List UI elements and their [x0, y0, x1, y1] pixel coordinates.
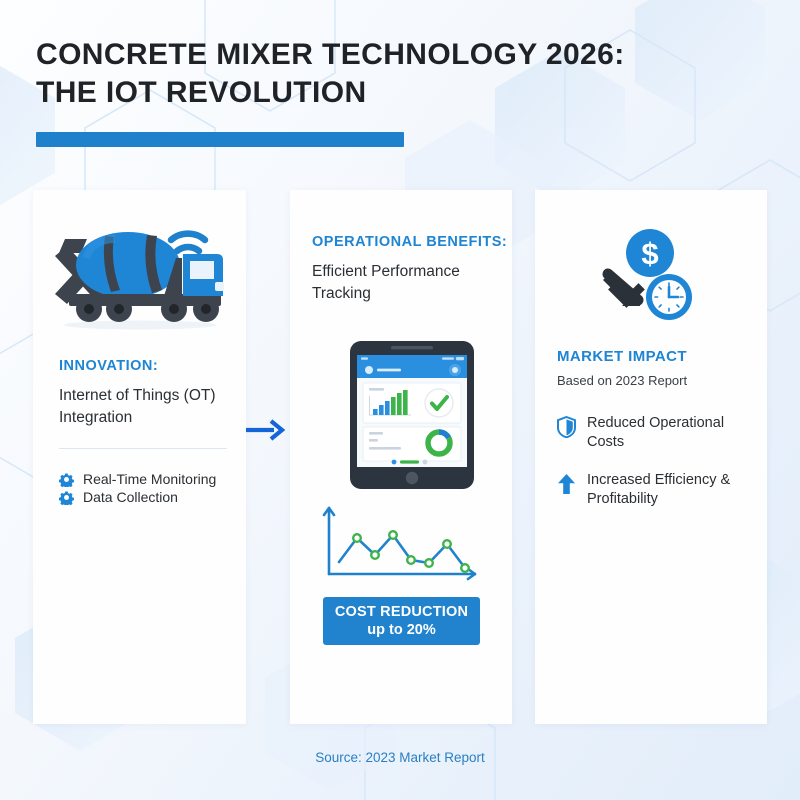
card-innovation[interactable]: INNOVATION: Internet of Things (OT) Inte… [33, 190, 246, 724]
shield-icon [557, 416, 576, 438]
card-market-impact-subtitle: Based on 2023 Report [557, 373, 752, 388]
list-item-label: Reduced Operational Costs [587, 414, 752, 452]
card-innovation-bullets: Real-Time Monitoring Data Collection [59, 470, 227, 506]
arrow-up-icon [557, 473, 576, 495]
dollar-clock-arrow-icon: $ [600, 226, 704, 326]
card-operational-benefits-eyebrow: OPERATIONAL BENEFITS: [312, 234, 508, 250]
list-item[interactable]: Increased Efficiency & Profitability [557, 471, 752, 509]
cards-row: INNOVATION: Internet of Things (OT) Inte… [0, 190, 800, 724]
card-innovation-eyebrow: INNOVATION: [59, 358, 227, 374]
arrow-right-icon [246, 418, 288, 442]
card-innovation-body: INNOVATION: Internet of Things (OT) Inte… [59, 358, 227, 506]
page-title-line-2: THE IOT REVOLUTION [36, 74, 736, 112]
card-market-impact-body: MARKET IMPACT Based on 2023 Report Reduc… [557, 348, 752, 529]
card-innovation-headline: Internet of Things (OT) Integration [59, 385, 227, 429]
gear-icon [59, 490, 74, 505]
gear-icon [59, 472, 74, 487]
svg-text:$: $ [641, 236, 658, 271]
cost-reduction-badge-line-2: up to 20% [323, 622, 480, 638]
cost-trend-line-chart [313, 502, 491, 586]
card-market-impact-title: MARKET IMPACT [557, 348, 752, 365]
cost-reduction-badge-line-1: COST REDUCTION [323, 604, 480, 620]
list-item-label: Data Collection [83, 488, 178, 506]
list-item-label: Increased Efficiency & Profitability [587, 471, 752, 509]
list-item[interactable]: Real-Time Monitoring [59, 470, 227, 488]
list-item[interactable]: Reduced Operational Costs [557, 414, 752, 452]
title-underline-rule [36, 132, 404, 147]
list-item-label: Real-Time Monitoring [83, 470, 216, 488]
page-title: CONCRETE MIXER TECHNOLOGY 2026: THE IOT … [36, 36, 736, 113]
card-operational-benefits[interactable]: OPERATIONAL BENEFITS: Efficient Performa… [290, 190, 512, 724]
concrete-mixer-truck-wifi-icon [43, 212, 238, 334]
card-innovation-divider [59, 448, 227, 449]
card-market-impact[interactable]: $ [535, 190, 767, 724]
source-footer: Source: 2023 Market Report [0, 750, 800, 765]
card-market-impact-bullets: Reduced Operational Costs Increased Effi… [557, 414, 752, 510]
page-title-line-1: CONCRETE MIXER TECHNOLOGY 2026: [36, 36, 736, 74]
card-operational-benefits-headline: Efficient Performance Tracking [312, 261, 508, 305]
cost-reduction-badge: COST REDUCTION up to 20% [323, 597, 480, 645]
infographic-canvas: CONCRETE MIXER TECHNOLOGY 2026: THE IOT … [0, 0, 800, 800]
header: CONCRETE MIXER TECHNOLOGY 2026: THE IOT … [36, 36, 736, 147]
list-item[interactable]: Data Collection [59, 488, 227, 506]
tablet-dashboard-icon [342, 339, 482, 491]
card-operational-benefits-head: OPERATIONAL BENEFITS: Efficient Performa… [312, 234, 508, 305]
